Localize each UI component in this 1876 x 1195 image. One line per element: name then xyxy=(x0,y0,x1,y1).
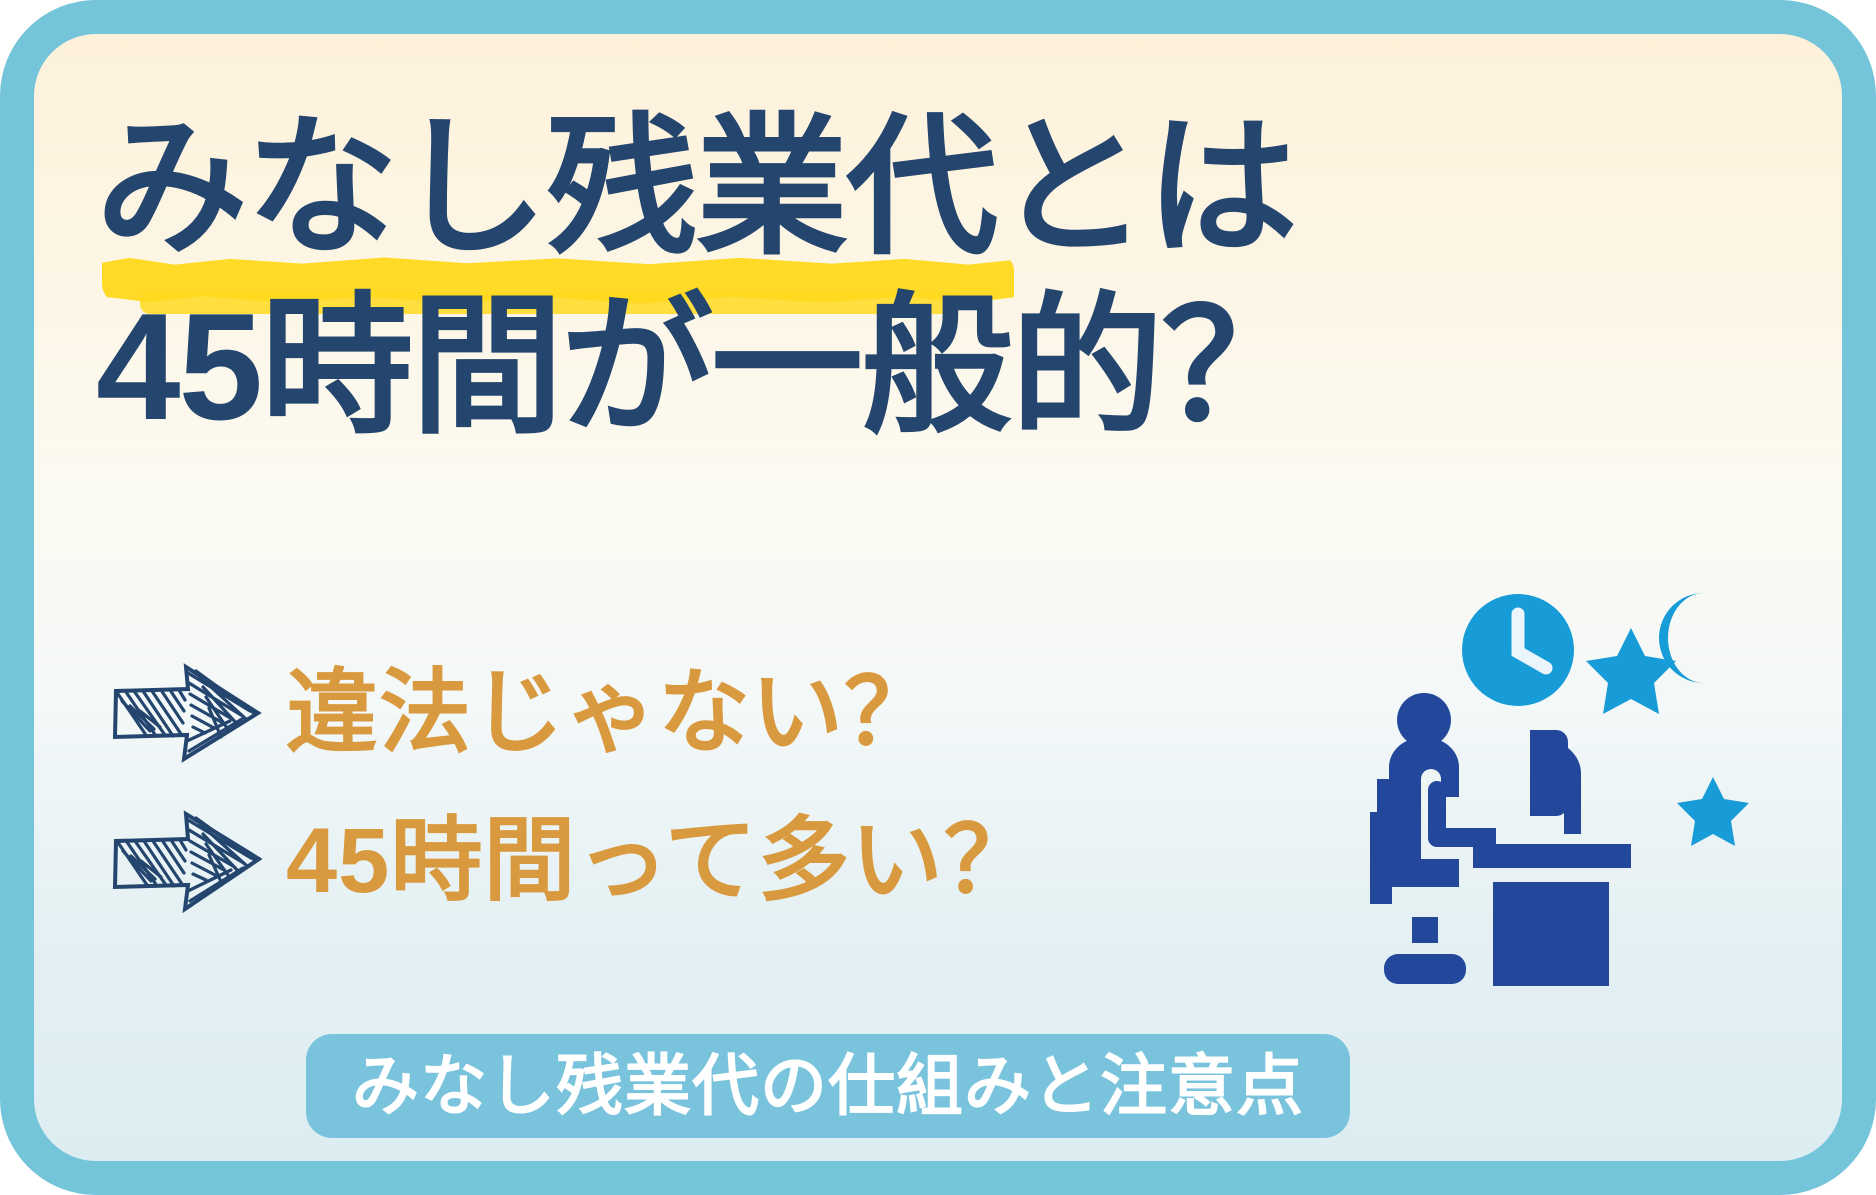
title-line-2: 45時間が一般的？ xyxy=(96,275,1516,460)
desk-icon xyxy=(1473,844,1631,868)
person-at-desk-overtime-illustration xyxy=(1356,562,1764,986)
bullet-list: 違法じゃない？ xyxy=(110,654,1037,920)
bullet-item-1: 違法じゃない？ xyxy=(110,654,1037,772)
bullet-item-2: 45時間って多い？ xyxy=(110,802,1037,920)
monitor-icon xyxy=(1530,730,1581,834)
title-block: みなし残業代とは 45時間が一般的？ xyxy=(96,96,1516,461)
clock-icon xyxy=(1462,594,1574,706)
bullet-item-1-label: 違法じゃない？ xyxy=(286,667,937,759)
bottom-banner-label: みなし残業代の仕組みと注意点 xyxy=(352,1053,1304,1120)
title-line-1: みなし残業代とは xyxy=(96,96,1516,281)
sketch-arrow-right-icon xyxy=(110,809,262,913)
star-icon xyxy=(1677,777,1749,846)
bottom-banner: みなし残業代の仕組みと注意点 xyxy=(306,1034,1350,1138)
bullet-item-2-label: 45時間って多い？ xyxy=(286,815,1037,907)
sketch-arrow-right-icon xyxy=(110,661,262,765)
infographic-card: みなし残業代とは 45時間が一般的？ xyxy=(0,0,1876,1195)
title-line-1-text: みなし残業代とは xyxy=(96,103,1296,273)
title-line-2-text: 45時間が一般的？ xyxy=(96,282,1311,452)
chair-icon xyxy=(1370,812,1392,904)
